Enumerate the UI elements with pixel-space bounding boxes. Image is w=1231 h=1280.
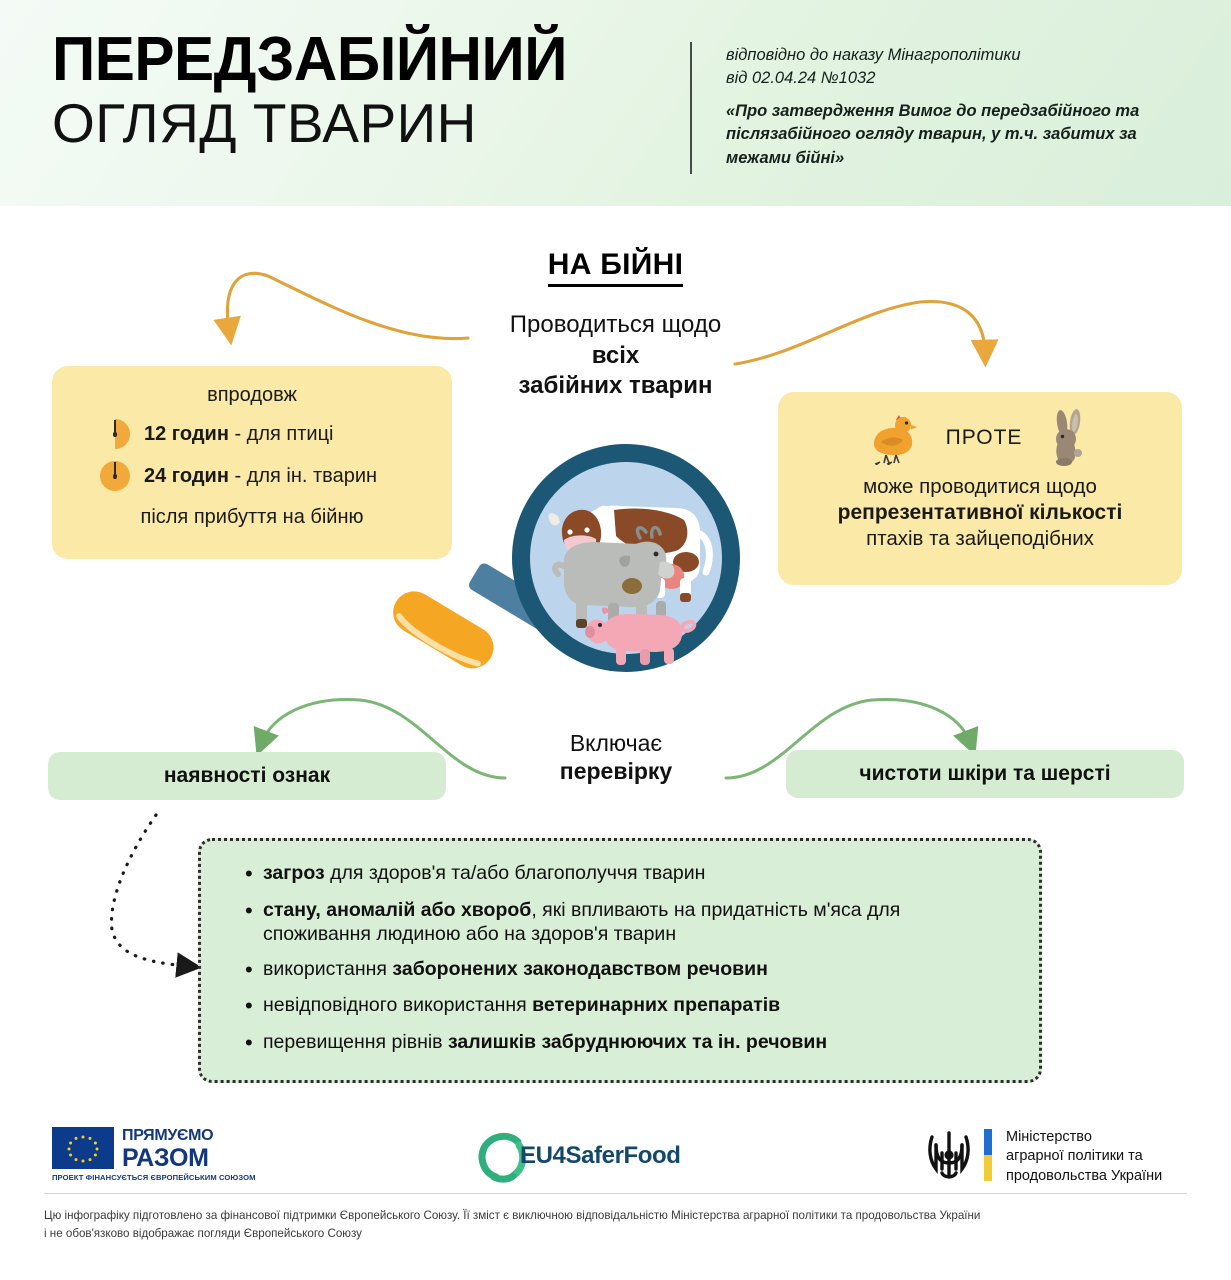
eu-logo-caption: ПРОЕКТ ФІНАНСУЄТЬСЯ ЄВРОПЕЙСЬКИМ СОЮЗОМ — [52, 1173, 256, 1182]
exception-body: може проводитися щодо репрезентативної к… — [778, 474, 1182, 552]
eu-flag-icon — [52, 1127, 114, 1169]
ukraine-trident-icon — [922, 1125, 976, 1185]
list-item-rest: для здоров'я та/або благополуччя тварин — [325, 862, 706, 884]
list-item-bold: загроз — [263, 862, 325, 884]
list-item-pre: невідповідного використання — [263, 994, 532, 1016]
magnifier-handle — [385, 584, 501, 677]
section-heading-text: НА БІЙНІ — [548, 248, 684, 287]
clock-full-icon — [100, 461, 130, 491]
dotted-arrow-to-list — [111, 815, 186, 966]
ukraine-flag-bar — [984, 1129, 992, 1181]
check-box-cleanliness: чистоти шкіри та шерсті — [786, 750, 1184, 798]
list-item: • використання заборонених законодавство… — [245, 957, 1013, 984]
header-banner: ПЕРЕДЗАБІЙНИЙ ОГЛЯД ТВАРИН відповідно до… — [0, 0, 1231, 206]
eu-caption-text: ПРОЕКТ ФІНАНСУЄТЬСЯ ЄВРОПЕЙСЬКИМ СОЮЗОМ — [52, 1173, 256, 1182]
includes-line-1: Включає — [481, 730, 751, 758]
note-line-2: від 02.04.24 №1032 — [726, 67, 1196, 90]
title-line-2: ОГЛЯД ТВАРИН — [52, 93, 672, 155]
timing-other-hours: 24 годин — [144, 465, 229, 487]
eu-stars-icon — [52, 1127, 114, 1169]
bullet-dot-icon: • — [245, 992, 263, 1020]
eu-word-1: ПРЯМУЄМО — [122, 1128, 213, 1144]
list-item: • загроз для здоров'я та/або благополучч… — [245, 861, 1013, 888]
list-item: • стану, аномалій або хвороб, які вплива… — [245, 898, 1013, 947]
includes-check-label: Включає перевірку — [481, 730, 751, 785]
eu-word-2: РАЗОМ — [122, 1146, 213, 1171]
note-line-1: відповідно до наказу Мінагрополітики — [726, 44, 1196, 67]
list-item: • невідповідного використання ветеринарн… — [245, 993, 1013, 1020]
chicken-icon — [866, 411, 924, 465]
list-item-text: стану, аномалій або хвороб, які впливают… — [263, 898, 1013, 947]
ministry-line-2: аграрної політики та — [1006, 1147, 1162, 1166]
eu4saferfood-wordmark: EU4SaferFood — [520, 1142, 681, 1170]
list-item-bold: ветеринарних препаратів — [532, 994, 780, 1016]
timing-other-text: 24 годин - для ін. тварин — [144, 465, 377, 488]
intro-line-1: Проводиться щодо — [0, 310, 1231, 341]
bullet-dot-icon: • — [245, 956, 263, 984]
note-order-title: «Про затвердження Вимог до передзабійног… — [726, 100, 1196, 170]
header-divider — [690, 42, 692, 174]
section-heading-na-biyni: НА БІЙНІ — [0, 248, 1231, 282]
eu-funding-logo: ПРЯМУЄМО РАЗОМ ПРОЕКТ ФІНАНСУЄТЬСЯ ЄВРОП… — [52, 1127, 252, 1187]
timing-intro: впродовж — [52, 384, 452, 407]
list-item-pre: перевищення рівнів — [263, 1031, 448, 1053]
timing-other-rest: - для ін. тварин — [229, 465, 377, 487]
bullet-dot-icon: • — [245, 897, 263, 925]
list-item-text: загроз для здоров'я та/або благополуччя … — [263, 861, 705, 886]
magnifying-glass-illustration — [368, 438, 768, 688]
list-item-bold: стану, аномалій або хвороб — [263, 899, 531, 921]
ministry-line-1: Міністерство — [1006, 1128, 1162, 1147]
exception-line-1: може проводитися щодо — [778, 474, 1182, 500]
list-item: • перевищення рівнів залишків забруднююч… — [245, 1030, 1013, 1057]
disclaimer-line-1: Цю інфографіку підготовлено за фінансово… — [44, 1207, 1194, 1225]
eu4saferfood-logo: EU4SaferFood — [478, 1130, 688, 1186]
eu-logo-words: ПРЯМУЄМО РАЗОМ — [122, 1128, 213, 1171]
check-box-signs: наявності ознак — [48, 752, 446, 800]
list-item-pre: використання — [263, 958, 392, 980]
exception-line-3: птахів та зайцеподібних — [778, 526, 1182, 552]
list-item-bold: заборонених законодавством речовин — [392, 958, 767, 980]
exception-line-2: репрезентативної кількості — [778, 500, 1182, 526]
yellow-box-exception: ПРОТЕ може проводитися щодо репрезентати… — [778, 392, 1182, 585]
ministry-logo: Міністерство аграрної політики та продов… — [922, 1125, 1192, 1187]
infographic-page: ПЕРЕДЗАБІЙНИЙ ОГЛЯД ТВАРИН відповідно до… — [0, 0, 1231, 1280]
check-box-cleanliness-label: чистоти шкіри та шерсті — [859, 762, 1110, 786]
list-item-text: використання заборонених законодавством … — [263, 957, 768, 982]
clock-half-icon — [100, 419, 130, 449]
exception-label: ПРОТЕ — [946, 426, 1023, 450]
timing-poultry-rest: - для птиці — [229, 423, 334, 445]
timing-poultry-text: 12 годин - для птиці — [144, 423, 333, 446]
bullet-dot-icon: • — [245, 1029, 263, 1057]
signs-list-box: • загроз для здоров'я та/або благополучч… — [198, 838, 1042, 1083]
list-item-bold: залишків забруднюючих та ін. речовин — [448, 1031, 827, 1053]
disclaimer-line-2: і не обов'язково відображає погляди Євро… — [44, 1225, 1194, 1243]
exception-header: ПРОТЕ — [778, 408, 1182, 468]
timing-poultry-hours: 12 годин — [144, 423, 229, 445]
includes-line-2: перевірку — [481, 758, 751, 786]
title-line-1: ПЕРЕДЗАБІЙНИЙ — [52, 28, 653, 91]
ministry-name: Міністерство аграрної політики та продов… — [1006, 1128, 1162, 1186]
rabbit-icon — [1044, 409, 1094, 467]
ministry-line-3: продовольства України — [1006, 1167, 1162, 1186]
check-box-signs-label: наявності ознак — [164, 764, 330, 788]
page-title: ПЕРЕДЗАБІЙНИЙ ОГЛЯД ТВАРИН — [52, 28, 672, 155]
bullet-dot-icon: • — [245, 860, 263, 888]
footer-disclaimer: Цю інфографіку підготовлено за фінансово… — [44, 1207, 1194, 1243]
header-legal-note: відповідно до наказу Мінагрополітики від… — [726, 44, 1196, 170]
list-item-text: невідповідного використання ветеринарних… — [263, 993, 780, 1018]
list-item-text: перевищення рівнів залишків забруднюючих… — [263, 1030, 827, 1055]
footer-divider — [44, 1193, 1187, 1194]
